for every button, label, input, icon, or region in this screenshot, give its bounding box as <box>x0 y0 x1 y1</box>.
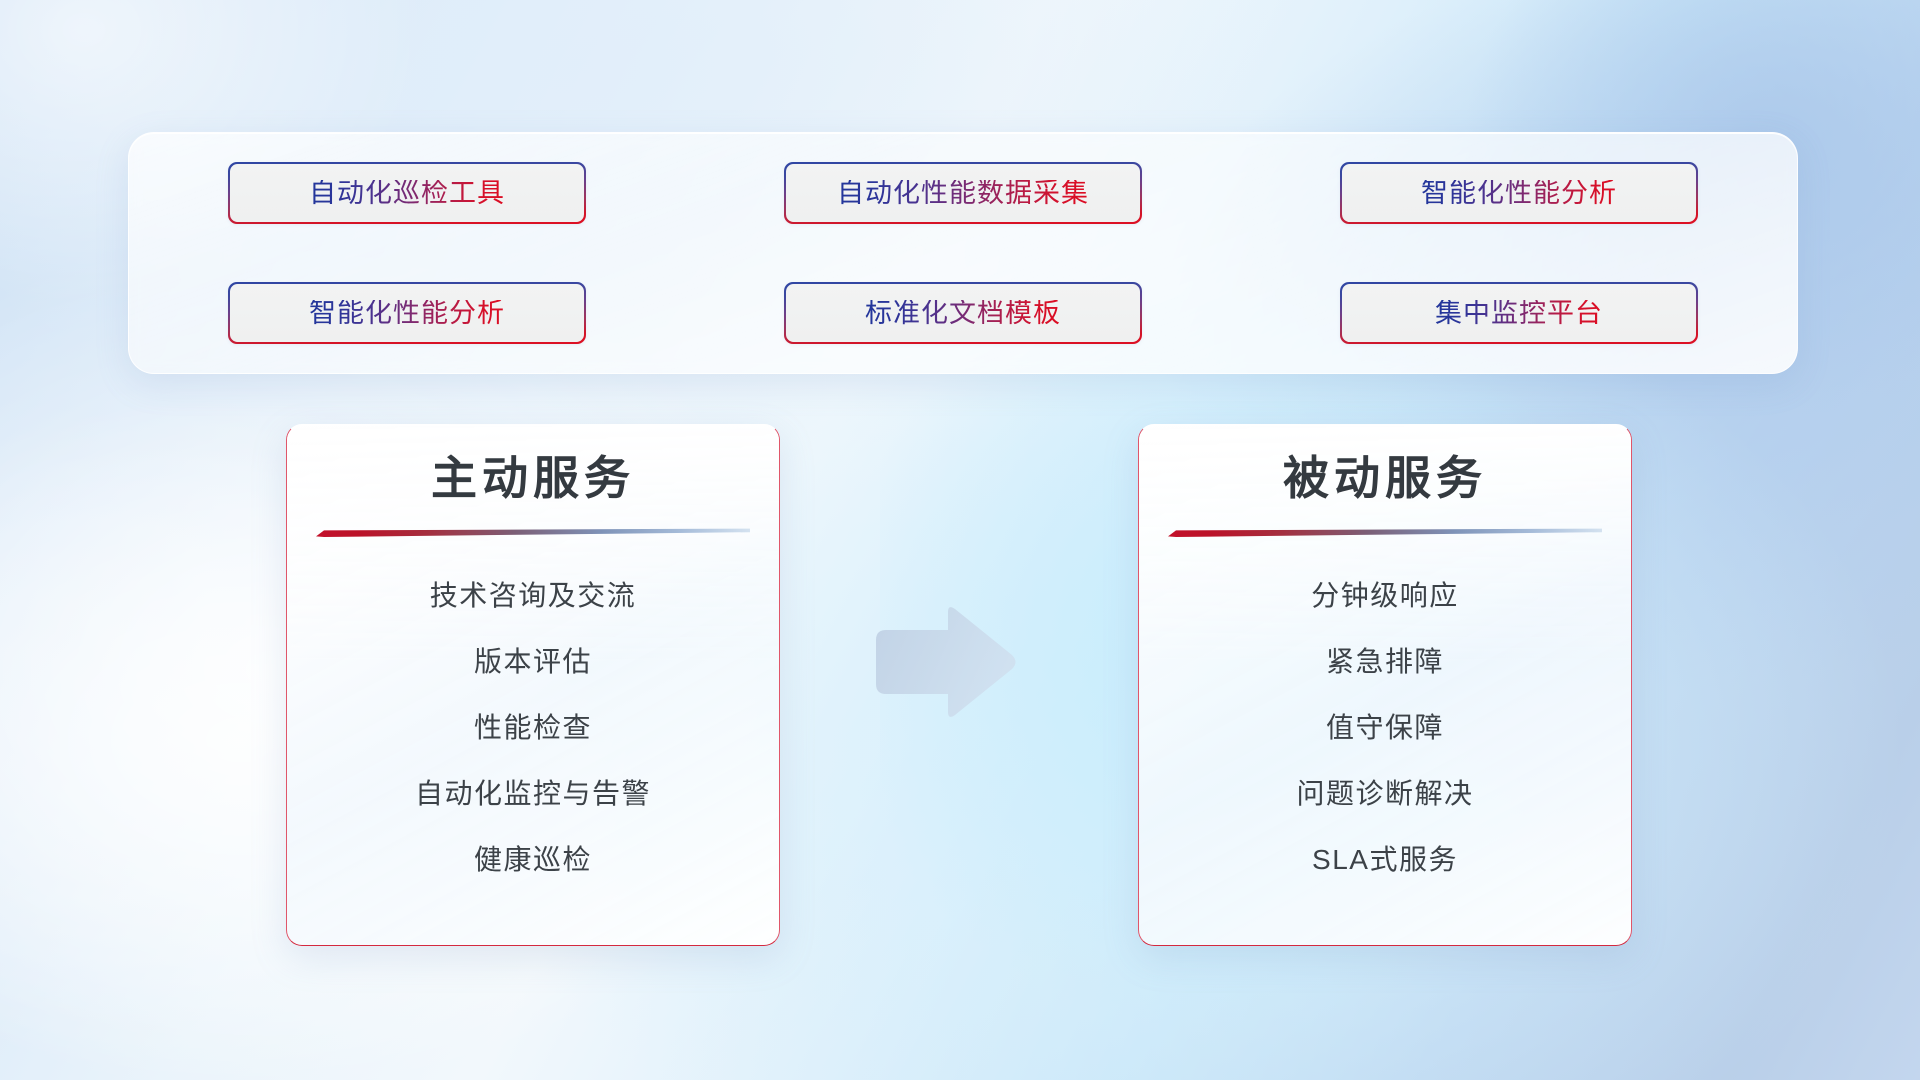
capability-pill-label: 智能化性能分析 <box>309 300 505 327</box>
service-card-items: 分钟级响应 紧急排障 值守保障 问题诊断解决 SLA式服务 <box>1139 563 1631 893</box>
capability-pill-inner: 标准化文档模板 <box>786 284 1141 343</box>
capability-pill-inner: 智能化性能分析 <box>230 284 585 343</box>
capability-pill-inner: 自动化性能数据采集 <box>786 164 1141 223</box>
service-card-items: 技术咨询及交流 版本评估 性能检查 自动化监控与告警 健康巡检 <box>287 563 779 893</box>
capability-pill-label: 自动化性能数据采集 <box>837 180 1089 207</box>
service-card-body: 被动服务 分钟级响应 紧急排障 <box>1139 425 1631 945</box>
service-item: 健康巡检 <box>474 827 592 893</box>
service-card-body: 主动服务 技术咨询及交流 版本评估 <box>287 425 779 945</box>
service-item: 值守保障 <box>1326 695 1444 761</box>
service-item: 自动化监控与告警 <box>415 761 651 827</box>
capability-pill-label: 自动化巡检工具 <box>309 180 505 207</box>
capability-pill[interactable]: 自动化性能数据采集 <box>784 162 1142 224</box>
capability-pill-inner: 自动化巡检工具 <box>230 164 585 223</box>
card-divider-accent <box>316 528 750 537</box>
capability-pill[interactable]: 自动化巡检工具 <box>228 162 586 224</box>
service-card-title: 主动服务 <box>431 453 635 504</box>
capability-pill[interactable]: 集中监控平台 <box>1340 282 1698 344</box>
capability-pill[interactable]: 智能化性能分析 <box>1340 162 1698 224</box>
capability-pill[interactable]: 标准化文档模板 <box>784 282 1142 344</box>
arrow-right-icon <box>866 604 1018 720</box>
service-item: 性能检查 <box>474 695 592 761</box>
capability-pill-label: 智能化性能分析 <box>1421 180 1617 207</box>
service-item: 版本评估 <box>474 629 592 695</box>
service-card-active: 主动服务 技术咨询及交流 版本评估 <box>286 424 780 946</box>
capability-pill-label: 集中监控平台 <box>1435 300 1603 327</box>
capability-pill-inner: 集中监控平台 <box>1342 284 1697 343</box>
slide-canvas: 自动化巡检工具 自动化性能数据采集 智能化性能分析 智能化性能分析 <box>0 0 1920 1080</box>
capability-pill-inner: 智能化性能分析 <box>1342 164 1697 223</box>
service-item: SLA式服务 <box>1312 827 1458 893</box>
card-divider-accent <box>1168 528 1602 537</box>
capability-panel: 自动化巡检工具 自动化性能数据采集 智能化性能分析 智能化性能分析 <box>128 132 1798 374</box>
service-item: 紧急排障 <box>1326 629 1444 695</box>
service-item: 技术咨询及交流 <box>430 563 637 629</box>
capability-pill-grid: 自动化巡检工具 自动化性能数据采集 智能化性能分析 智能化性能分析 <box>129 133 1797 373</box>
capability-pill-label: 标准化文档模板 <box>865 300 1061 327</box>
capability-pill[interactable]: 智能化性能分析 <box>228 282 586 344</box>
service-card-title: 被动服务 <box>1283 453 1487 504</box>
service-card-passive: 被动服务 分钟级响应 紧急排障 <box>1138 424 1632 946</box>
service-item: 问题诊断解决 <box>1296 761 1473 827</box>
service-item: 分钟级响应 <box>1311 563 1459 629</box>
